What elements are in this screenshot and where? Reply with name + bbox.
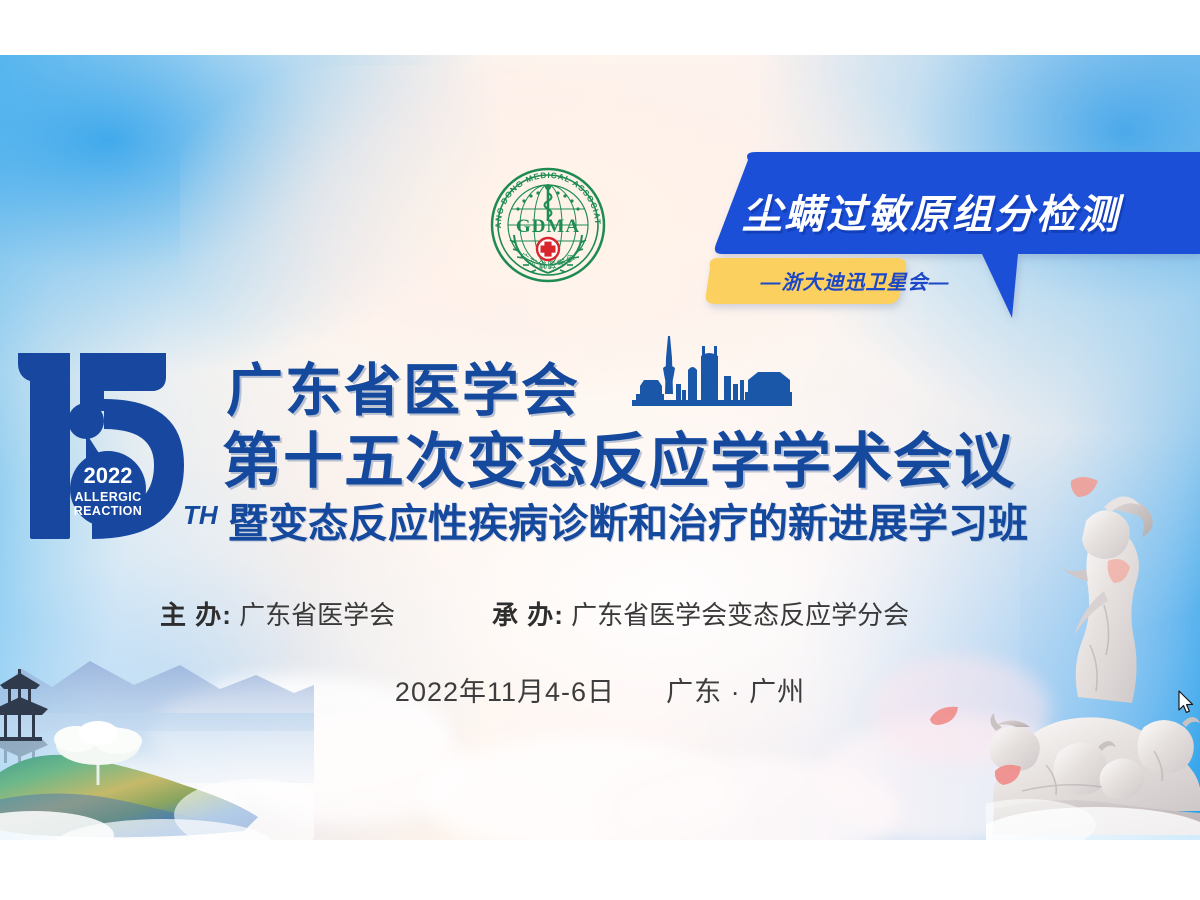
cloud-puff bbox=[420, 735, 740, 840]
banner-subtitle: —浙大迪迅卫星会— bbox=[726, 257, 984, 303]
badge-line2: REACTION bbox=[74, 504, 142, 518]
satellite-session-banner: 尘螨过敏原组分检测 —浙大迪迅卫星会— bbox=[700, 150, 1200, 330]
cloud-puff bbox=[600, 755, 900, 840]
host-organizer: 主 办: 广东省医学会 bbox=[160, 595, 395, 632]
coorg-label: 承 办: bbox=[492, 600, 564, 630]
conference-poster: GDMA 1987 bbox=[0, 55, 1200, 840]
coorg-name: 广东省医学会变态反应学分会 bbox=[571, 600, 909, 630]
badge-year: 2022 bbox=[84, 463, 133, 488]
title-line-1: 广东省医学会 bbox=[226, 345, 580, 427]
five-rams-statue bbox=[986, 465, 1200, 840]
anniversary-15-logo: 2022 ALLERGIC REACTION bbox=[8, 337, 208, 542]
landscape-illustration bbox=[0, 635, 314, 840]
badge-line1: ALLERGIC bbox=[74, 490, 141, 504]
title-line-2: 第十五次变态反应学学术会议 bbox=[222, 413, 1015, 500]
svg-text:GDMA: GDMA bbox=[516, 216, 580, 237]
title-line-3: 暨变态反应性疾病诊断和治疗的新进展学习班 bbox=[228, 491, 1028, 549]
guangzhou-skyline-icon bbox=[632, 332, 792, 410]
host-label: 主 办: bbox=[160, 600, 232, 630]
co-organizer: 承 办: 广东省医学会变态反应学分会 bbox=[492, 595, 909, 632]
host-name: 广东省医学会 bbox=[239, 600, 395, 630]
sky-wash-left bbox=[0, 55, 500, 375]
gdma-logo: GDMA 1987 bbox=[478, 165, 618, 290]
event-location: 广东 · 广州 bbox=[666, 670, 805, 709]
banner-title: 尘螨过敏原组分检测 bbox=[742, 182, 1192, 240]
mouse-cursor bbox=[1178, 690, 1196, 716]
event-date: 2022年11月4-6日 bbox=[395, 670, 615, 709]
